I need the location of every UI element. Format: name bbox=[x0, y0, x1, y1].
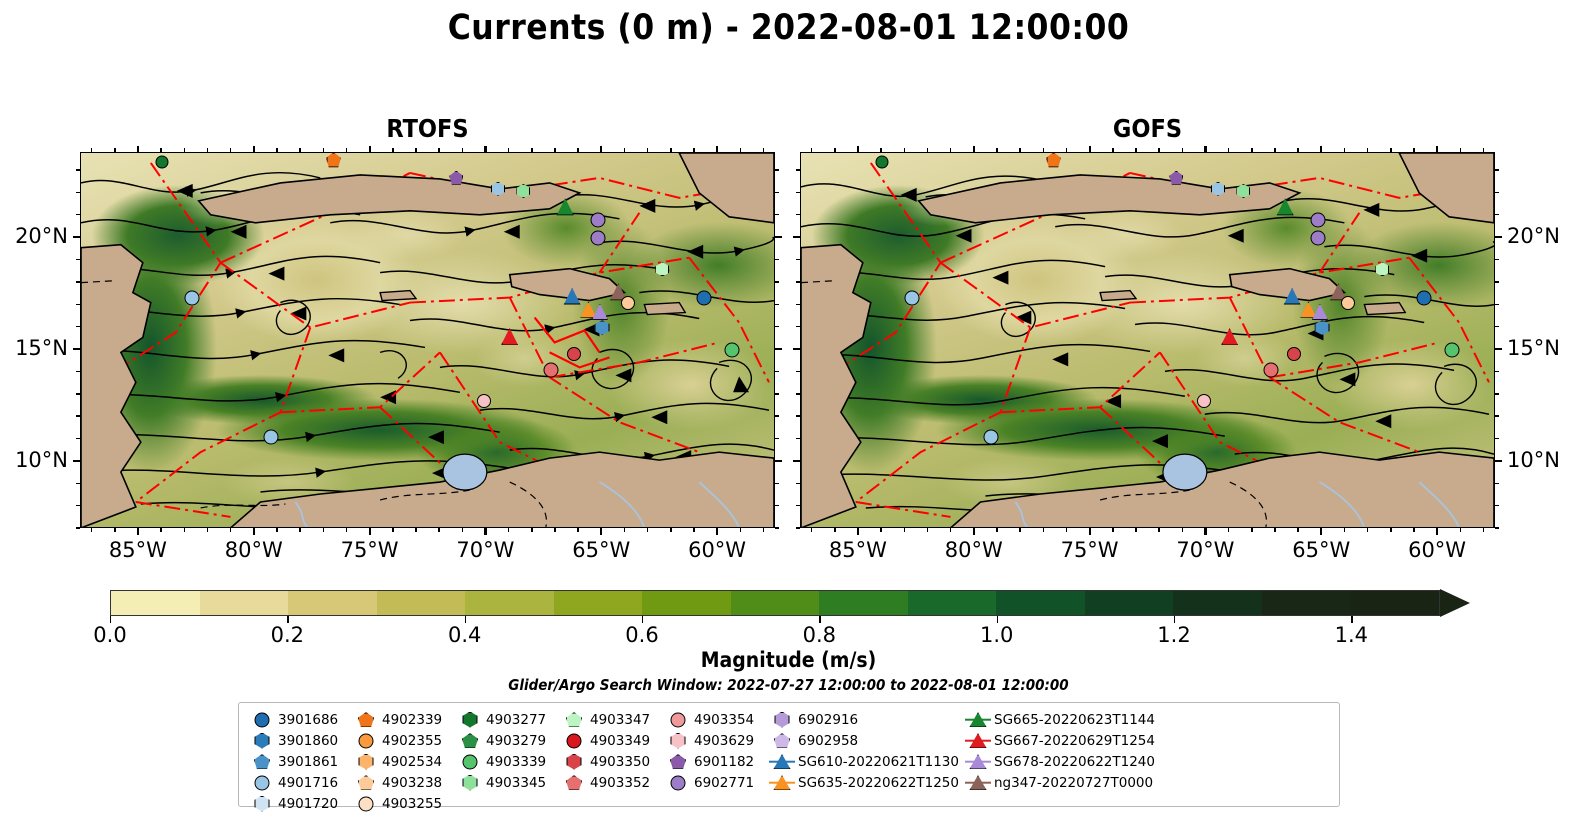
axis-tick bbox=[369, 146, 371, 152]
axis-tick bbox=[1495, 483, 1499, 484]
argo-marker-icon bbox=[249, 773, 275, 792]
axis-tick bbox=[796, 192, 800, 193]
axis-tick bbox=[775, 236, 782, 238]
axis-tick bbox=[1495, 527, 1499, 528]
map-marker[interactable] bbox=[1417, 291, 1432, 306]
axis-tick bbox=[276, 148, 277, 152]
map-marker[interactable] bbox=[1444, 342, 1459, 357]
colorbar-band-0 bbox=[111, 591, 200, 615]
axis-tick bbox=[1483, 148, 1484, 152]
colorbar-band-7 bbox=[731, 591, 820, 615]
legend-item[interactable]: 3901860 bbox=[249, 731, 353, 750]
axis-tick bbox=[927, 528, 928, 532]
hexa-marker-icon bbox=[359, 754, 374, 770]
argo-marker-icon bbox=[353, 752, 379, 771]
legend-item[interactable]: 4901720 bbox=[249, 794, 353, 813]
legend-item[interactable]: 4901716 bbox=[249, 773, 353, 792]
axis-tick bbox=[1367, 528, 1368, 532]
legend-item[interactable]: 4903255 bbox=[353, 794, 457, 813]
colorbar-tick bbox=[819, 616, 820, 623]
axis-tick bbox=[508, 148, 509, 152]
map-marker[interactable] bbox=[477, 394, 491, 408]
axis-tick bbox=[1274, 148, 1275, 152]
axis-tick-label: 20°N bbox=[15, 224, 68, 248]
argo-marker-icon bbox=[353, 794, 379, 813]
axis-tick-label: 10°N bbox=[15, 448, 68, 472]
axis-tick bbox=[775, 169, 779, 170]
axis-tick bbox=[740, 148, 741, 152]
axis-tick bbox=[1495, 438, 1499, 439]
axis-tick-label: 75°W bbox=[341, 538, 399, 562]
land-south-america bbox=[951, 452, 1494, 528]
axis-tick bbox=[76, 393, 80, 394]
colorbar-band-8 bbox=[819, 591, 908, 615]
argo-marker-icon bbox=[561, 773, 587, 792]
land-bahamas bbox=[1399, 153, 1494, 223]
colorbar-band-2 bbox=[288, 591, 377, 615]
legend-item-label: 4903279 bbox=[483, 733, 546, 749]
axis-tick bbox=[775, 214, 779, 215]
legend-item-label: 6902958 bbox=[795, 733, 858, 749]
legend-item-label: 4903354 bbox=[691, 712, 754, 728]
legend-item[interactable]: 6902958 bbox=[769, 731, 965, 750]
axis-tick-label: 65°W bbox=[1292, 538, 1350, 562]
axis-tick bbox=[392, 148, 393, 152]
map-marker[interactable] bbox=[1341, 296, 1355, 310]
colorbar-tick bbox=[465, 616, 466, 623]
axis-tick bbox=[184, 528, 185, 532]
argo-marker-icon bbox=[769, 710, 795, 729]
argo-marker-icon bbox=[457, 731, 483, 750]
axis-tick bbox=[160, 148, 161, 152]
colorbar-tick bbox=[110, 616, 111, 623]
argo-marker-icon bbox=[665, 710, 691, 729]
legend-item[interactable]: SG678-20220622T1240 bbox=[965, 752, 1161, 771]
legend-item[interactable]: 4903238 bbox=[353, 773, 457, 792]
axis-tick bbox=[1135, 148, 1136, 152]
legend-item[interactable]: SG667-20220629T1254 bbox=[965, 731, 1161, 750]
legend-item[interactable]: 4903279 bbox=[457, 731, 561, 750]
axis-tick bbox=[670, 528, 671, 532]
map-marker[interactable] bbox=[1310, 231, 1325, 246]
axis-tick bbox=[1495, 415, 1499, 416]
argo-marker-icon bbox=[353, 710, 379, 729]
axis-tick bbox=[693, 148, 694, 152]
legend-item[interactable]: 4903354 bbox=[665, 710, 769, 729]
axis-tick bbox=[1367, 148, 1368, 152]
axis-tick bbox=[880, 528, 881, 532]
land-hispaniola bbox=[510, 269, 625, 301]
circle-marker-icon bbox=[567, 733, 582, 748]
legend-item[interactable]: 4902534 bbox=[353, 752, 457, 771]
argo-marker-icon bbox=[249, 710, 275, 729]
axis-tick bbox=[1413, 148, 1414, 152]
penta-marker-icon bbox=[566, 712, 582, 727]
axis-tick bbox=[1182, 148, 1183, 152]
axis-tick bbox=[1297, 528, 1298, 532]
legend-item-label: 4901716 bbox=[275, 775, 338, 791]
axis-tick bbox=[796, 527, 800, 528]
axis-tick bbox=[1228, 528, 1229, 532]
axis-tick bbox=[793, 348, 800, 350]
land-south-america bbox=[231, 452, 774, 528]
legend-item-label: SG665-20220623T1144 bbox=[991, 712, 1155, 728]
map-marker[interactable] bbox=[724, 342, 739, 357]
colorbar-band-3 bbox=[377, 591, 466, 615]
axis-tick-label: 60°W bbox=[1408, 538, 1466, 562]
axis-tick bbox=[1495, 393, 1499, 394]
axis-tick bbox=[834, 148, 835, 152]
axis-tick-label: 60°W bbox=[688, 538, 746, 562]
map-marker[interactable] bbox=[1197, 394, 1211, 408]
map-marker[interactable] bbox=[697, 291, 712, 306]
axis-tick-label: 70°W bbox=[456, 538, 514, 562]
argo-marker-icon bbox=[561, 710, 587, 729]
map-marker[interactable] bbox=[876, 155, 889, 168]
axis-tick bbox=[1019, 528, 1020, 532]
map-marker[interactable] bbox=[263, 430, 278, 445]
axis-tick bbox=[76, 214, 80, 215]
legend-item[interactable]: 6902916 bbox=[769, 710, 965, 729]
axis-tick bbox=[693, 528, 694, 532]
axis-tick bbox=[647, 148, 648, 152]
legend-item[interactable]: 4903629 bbox=[665, 731, 769, 750]
circle-marker-icon bbox=[463, 754, 478, 769]
axis-tick-label: 80°W bbox=[945, 538, 1003, 562]
hexa-marker-icon bbox=[775, 712, 790, 728]
legend-item-label: 4903238 bbox=[379, 775, 442, 791]
axis-tick bbox=[880, 148, 881, 152]
map-marker[interactable] bbox=[185, 291, 200, 306]
lake-maracaibo bbox=[443, 454, 487, 490]
legend-item[interactable]: 4902355 bbox=[353, 731, 457, 750]
land-hispaniola bbox=[1230, 269, 1345, 301]
land-cuba bbox=[919, 175, 1300, 223]
axis-tick bbox=[775, 483, 779, 484]
penta-marker-icon bbox=[566, 775, 582, 790]
axis-tick bbox=[73, 348, 80, 350]
axis-tick bbox=[76, 527, 80, 528]
axis-tick bbox=[775, 281, 779, 282]
argo-marker-icon bbox=[665, 752, 691, 771]
axis-tick bbox=[624, 528, 625, 532]
map-marker[interactable] bbox=[590, 231, 605, 246]
argo-marker-icon bbox=[457, 752, 483, 771]
axis-tick bbox=[73, 460, 80, 462]
legend-item[interactable]: 4903347 bbox=[561, 710, 665, 729]
colorbar-band-10 bbox=[996, 591, 1085, 615]
legend-item-label: 4902339 bbox=[379, 712, 442, 728]
axis-tick bbox=[775, 438, 779, 439]
circle-marker-icon bbox=[359, 733, 374, 748]
axis-tick bbox=[1204, 146, 1206, 152]
axis-tick bbox=[950, 528, 951, 532]
axis-tick bbox=[973, 528, 975, 535]
legend-item[interactable]: SG665-20220623T1144 bbox=[965, 710, 1161, 729]
axis-tick bbox=[114, 148, 115, 152]
axis-tick bbox=[793, 460, 800, 462]
legend-item-label: 4902355 bbox=[379, 733, 442, 749]
axis-tick bbox=[1344, 528, 1345, 532]
axis-tick bbox=[1019, 148, 1020, 152]
axis-tick bbox=[775, 371, 779, 372]
legend-item-label: 6901182 bbox=[691, 754, 754, 770]
land-central-america bbox=[801, 245, 871, 528]
colorbar-band-1 bbox=[200, 591, 289, 615]
colorbar-tick-label: 0.4 bbox=[448, 623, 481, 647]
axis-tick bbox=[1495, 169, 1499, 170]
map-marker[interactable] bbox=[1310, 213, 1325, 228]
axis-tick bbox=[415, 528, 416, 532]
axis-tick bbox=[415, 148, 416, 152]
legend-item[interactable]: SG635-20220622T1250 bbox=[769, 773, 965, 792]
legend-item[interactable]: 4903277 bbox=[457, 710, 561, 729]
axis-tick bbox=[775, 505, 779, 506]
axis-tick bbox=[996, 528, 997, 532]
legend-item[interactable]: SG610-20220621T1130 bbox=[769, 752, 965, 771]
axis-tick bbox=[1483, 528, 1484, 532]
glider-marker-icon bbox=[965, 731, 991, 750]
axis-tick bbox=[647, 528, 648, 532]
argo-marker-icon bbox=[561, 752, 587, 771]
axis-tick bbox=[76, 326, 80, 327]
glider-marker-icon bbox=[965, 752, 991, 771]
colorbar-tick bbox=[642, 616, 643, 623]
glider-marker-icon bbox=[769, 752, 795, 771]
axis-tick bbox=[554, 148, 555, 152]
glider-marker-icon bbox=[769, 773, 795, 792]
axis-tick bbox=[716, 528, 718, 535]
legend-column-1: 49023394902355490253449032384903255 bbox=[353, 710, 457, 802]
axis-tick bbox=[857, 146, 859, 152]
axis-tick bbox=[1320, 146, 1322, 152]
legend-item-label: 4903255 bbox=[379, 796, 442, 812]
axis-tick bbox=[775, 259, 779, 260]
legend-item-label: 4903277 bbox=[483, 712, 546, 728]
circle-marker-icon bbox=[671, 712, 686, 727]
argo-marker-icon bbox=[353, 731, 379, 750]
axis-tick bbox=[1436, 146, 1438, 152]
argo-marker-icon bbox=[249, 731, 275, 750]
axis-tick bbox=[323, 528, 324, 532]
legend-item-label: SG635-20220622T1250 bbox=[795, 775, 959, 791]
argo-marker-icon bbox=[249, 752, 275, 771]
axis-tick bbox=[76, 483, 80, 484]
map-marker[interactable] bbox=[1287, 347, 1301, 361]
colorbar-tick bbox=[287, 616, 288, 623]
panel-gofs: GOFS bbox=[800, 152, 1495, 528]
axis-tick bbox=[508, 528, 509, 532]
axis-tick bbox=[91, 148, 92, 152]
axis-tick bbox=[1251, 148, 1252, 152]
axis-tick bbox=[392, 528, 393, 532]
legend-item-label: 4902534 bbox=[379, 754, 442, 770]
axis-tick bbox=[1251, 528, 1252, 532]
axis-tick bbox=[600, 146, 602, 152]
axis-tick bbox=[811, 148, 812, 152]
axis-tick bbox=[1460, 528, 1461, 532]
axis-tick bbox=[114, 528, 115, 532]
axis-tick bbox=[531, 148, 532, 152]
axis-tick bbox=[1043, 528, 1044, 532]
legend-item[interactable]: 3901861 bbox=[249, 752, 353, 771]
circle-marker-icon bbox=[255, 775, 270, 790]
map-canvas-rtofs bbox=[81, 153, 774, 527]
map-gofs[interactable] bbox=[800, 152, 1495, 528]
penta-marker-icon bbox=[774, 733, 790, 748]
axis-tick bbox=[369, 528, 371, 535]
penta-marker-icon bbox=[358, 775, 374, 790]
hexa-marker-icon bbox=[463, 775, 478, 791]
axis-tick bbox=[1413, 528, 1414, 532]
axis-tick bbox=[1135, 528, 1136, 532]
axis-tick bbox=[253, 146, 255, 152]
legend-item[interactable]: 4902339 bbox=[353, 710, 457, 729]
axis-tick bbox=[207, 148, 208, 152]
axis-tick bbox=[775, 460, 782, 462]
legend-item-label: SG610-20220621T1130 bbox=[795, 754, 959, 770]
axis-tick bbox=[438, 148, 439, 152]
axis-tick bbox=[1066, 148, 1067, 152]
land-bahamas bbox=[679, 153, 774, 223]
map-marker[interactable] bbox=[544, 363, 559, 378]
lake-maracaibo bbox=[1163, 454, 1207, 490]
axis-tick-label: 70°W bbox=[1176, 538, 1234, 562]
legend-item[interactable]: 4903339 bbox=[457, 752, 561, 771]
legend-item-label: 3901860 bbox=[275, 733, 338, 749]
argo-marker-icon bbox=[457, 773, 483, 792]
colorbar-tick bbox=[1351, 616, 1352, 623]
axis-tick bbox=[1158, 528, 1159, 532]
axis-tick bbox=[1228, 148, 1229, 152]
map-marker[interactable] bbox=[621, 296, 635, 310]
legend-item[interactable]: 4903345 bbox=[457, 773, 561, 792]
axis-tick bbox=[1297, 148, 1298, 152]
axis-tick bbox=[531, 528, 532, 532]
map-marker[interactable] bbox=[567, 347, 581, 361]
legend-item[interactable]: 4903349 bbox=[561, 731, 665, 750]
legend-item[interactable]: 4903352 bbox=[561, 773, 665, 792]
axis-tick bbox=[76, 192, 80, 193]
argo-marker-icon bbox=[249, 794, 275, 813]
colorbar-band-13 bbox=[1262, 591, 1351, 615]
legend[interactable]: 3901686390186039018614901716490172049023… bbox=[238, 702, 1340, 807]
axis-tick bbox=[1274, 528, 1275, 532]
hexa-marker-icon bbox=[255, 733, 270, 749]
axis-tick bbox=[716, 146, 718, 152]
axis-tick bbox=[230, 528, 231, 532]
axis-tick bbox=[1390, 148, 1391, 152]
map-marker[interactable] bbox=[983, 430, 998, 445]
map-canvas-gofs bbox=[801, 153, 1494, 527]
colorbar-tick-label: 0.8 bbox=[803, 623, 836, 647]
axis-tick bbox=[299, 148, 300, 152]
legend-item[interactable]: ng347-20220727T0000 bbox=[965, 773, 1161, 792]
legend-item-label: SG667-20220629T1254 bbox=[991, 733, 1155, 749]
legend-item[interactable]: 4903350 bbox=[561, 752, 665, 771]
axis-tick bbox=[796, 438, 800, 439]
axis-tick bbox=[276, 528, 277, 532]
land-central-america bbox=[81, 245, 151, 528]
map-rtofs[interactable] bbox=[80, 152, 775, 528]
legend-item[interactable]: 6902771 bbox=[665, 773, 769, 792]
axis-tick bbox=[76, 304, 80, 305]
axis-tick bbox=[207, 528, 208, 532]
land-puerto-rico bbox=[644, 303, 685, 315]
map-marker[interactable] bbox=[1264, 363, 1279, 378]
hexa-marker-icon bbox=[255, 796, 270, 812]
axis-tick bbox=[462, 528, 463, 532]
argo-marker-icon bbox=[665, 731, 691, 750]
axis-tick bbox=[973, 146, 975, 152]
argo-marker-icon bbox=[665, 773, 691, 792]
axis-tick bbox=[1495, 371, 1499, 372]
map-marker[interactable] bbox=[905, 291, 920, 306]
axis-tick bbox=[1436, 528, 1438, 535]
argo-marker-icon bbox=[353, 773, 379, 792]
glider-marker-icon bbox=[965, 773, 991, 792]
axis-tick bbox=[1460, 148, 1461, 152]
axis-tick bbox=[1043, 148, 1044, 152]
panel-rtofs: RTOFS bbox=[80, 152, 775, 528]
legend-column-2: 4903277490327949033394903345 bbox=[457, 710, 561, 802]
axis-tick bbox=[775, 348, 782, 350]
legend-item[interactable]: 6901182 bbox=[665, 752, 769, 771]
axis-tick bbox=[904, 528, 905, 532]
axis-tick bbox=[1495, 192, 1499, 193]
legend-item-label: 3901686 bbox=[275, 712, 338, 728]
axis-tick bbox=[1204, 528, 1206, 535]
panel-title-gofs: GOFS bbox=[800, 114, 1495, 143]
axis-tick bbox=[1495, 304, 1499, 305]
land-jamaica bbox=[380, 291, 416, 301]
legend-item[interactable]: 3901686 bbox=[249, 710, 353, 729]
legend-item-label: 4903347 bbox=[587, 712, 650, 728]
axis-tick bbox=[857, 528, 859, 535]
axis-tick bbox=[1495, 281, 1499, 282]
axis-tick bbox=[1495, 214, 1499, 215]
map-marker[interactable] bbox=[590, 213, 605, 228]
colorbar-tick bbox=[997, 616, 998, 623]
colorbar-tick-label: 0.6 bbox=[625, 623, 658, 647]
colorbar[interactable]: 0.00.20.40.60.81.01.21.4 bbox=[110, 590, 1470, 616]
colorbar-extend-arrow bbox=[1440, 589, 1470, 617]
panel-title-rtofs: RTOFS bbox=[80, 114, 775, 143]
axis-tick-label: 15°N bbox=[1507, 336, 1560, 360]
axis-tick bbox=[796, 483, 800, 484]
penta-marker-icon bbox=[358, 712, 374, 727]
axis-tick bbox=[577, 528, 578, 532]
axis-tick bbox=[1344, 148, 1345, 152]
colorbar-band-5 bbox=[554, 591, 643, 615]
colorbar-band-12 bbox=[1173, 591, 1262, 615]
axis-tick bbox=[137, 528, 139, 535]
axis-tick bbox=[793, 236, 800, 238]
axis-tick bbox=[76, 281, 80, 282]
axis-tick bbox=[775, 304, 779, 305]
land-cuba bbox=[199, 175, 580, 223]
colorbar-title: Magnitude (m/s) bbox=[0, 648, 1577, 672]
axis-tick bbox=[1495, 505, 1499, 506]
axis-tick bbox=[554, 528, 555, 532]
axis-tick bbox=[1390, 528, 1391, 532]
axis-tick bbox=[1495, 326, 1499, 327]
map-marker[interactable] bbox=[156, 155, 169, 168]
axis-tick bbox=[904, 148, 905, 152]
search-window-label: Glider/Argo Search Window: 2022-07-27 12… bbox=[0, 676, 1577, 694]
axis-tick-label: 10°N bbox=[1507, 448, 1560, 472]
axis-tick-label: 15°N bbox=[15, 336, 68, 360]
